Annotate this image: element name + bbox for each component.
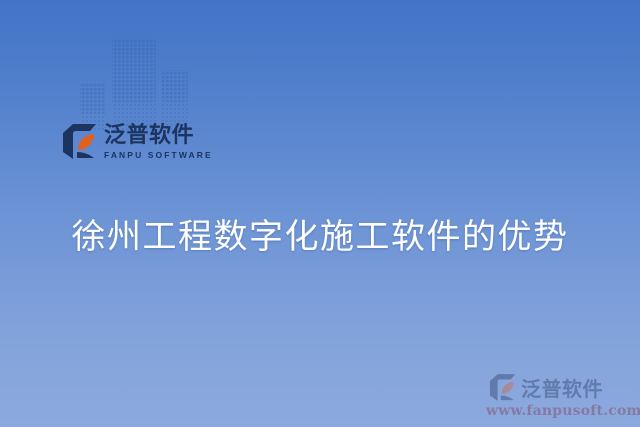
skyline-svg <box>78 36 190 130</box>
fanpu-logo-mark-icon <box>63 124 97 159</box>
watermark-logo-mark-icon <box>490 374 516 401</box>
watermark-logo: 泛普软件 <box>486 373 632 402</box>
brand-name-en: FANPU SOFTWARE <box>104 151 213 160</box>
banner-image: 泛普软件 FANPU SOFTWARE 徐州工程数字化施工软件的优势 泛普软件 … <box>0 0 640 427</box>
watermark-url: www.fanpusoft.com <box>486 403 632 419</box>
brand-name-cn: 泛普软件 <box>104 124 213 146</box>
watermark-name-cn: 泛普软件 <box>521 373 603 402</box>
brand-wordmark: 泛普软件 FANPU SOFTWARE <box>104 124 213 160</box>
page-title: 徐州工程数字化施工软件的优势 <box>0 216 640 259</box>
brand-logo: 泛普软件 FANPU SOFTWARE <box>63 124 213 160</box>
pixel-skyline-decoration <box>78 36 190 130</box>
watermark: 泛普软件 www.fanpusoft.com <box>486 373 632 419</box>
